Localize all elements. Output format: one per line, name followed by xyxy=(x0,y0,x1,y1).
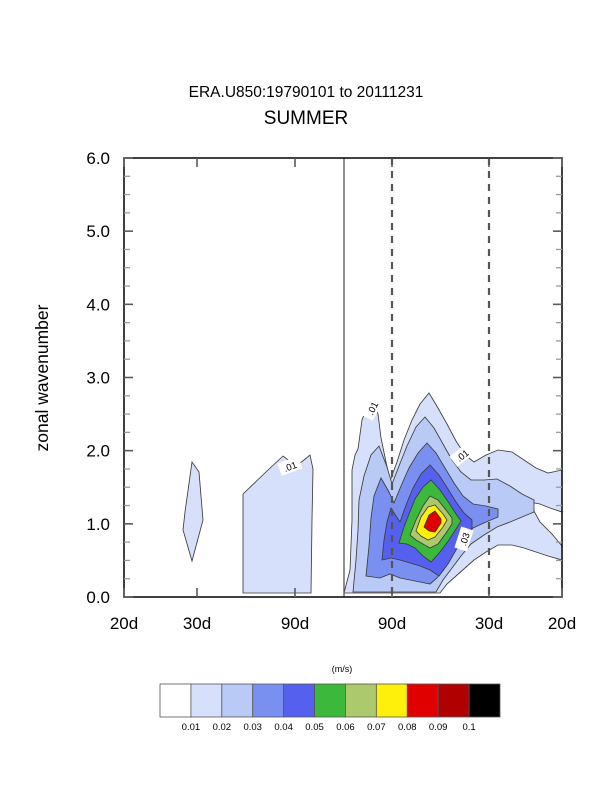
y-axis-label: zonal wavenumber xyxy=(32,304,52,451)
x-tick-label: 20d xyxy=(548,614,576,633)
figure-subtitle: SUMMER xyxy=(264,108,348,129)
colorbar-cell-2 xyxy=(222,684,253,717)
colorbar-level-label: 0.01 xyxy=(182,722,201,733)
colorbar-level-label: 0.04 xyxy=(274,722,293,733)
figure-title: ERA.U850:19790101 to 20111231 xyxy=(189,84,424,101)
colorbar-units-label: (m/s) xyxy=(332,664,353,674)
colorbar-level-label: 0.07 xyxy=(367,722,386,733)
y-tick-label: 2.0 xyxy=(86,442,110,461)
colorbar-cell-9 xyxy=(438,684,469,717)
colorbar-cell-5 xyxy=(315,684,346,717)
colorbar-level-label: 0.03 xyxy=(243,722,262,733)
x-axis-tick-labels: 20d30d90d90d30d20d xyxy=(110,614,576,633)
x-tick-label: 30d xyxy=(183,614,211,633)
x-tick-label: 90d xyxy=(378,614,406,633)
y-tick-label: 6.0 xyxy=(86,149,110,168)
colorbar-cell-10 xyxy=(469,684,500,717)
colorbar-cell-7 xyxy=(376,684,407,717)
colorbar-cell-4 xyxy=(284,684,315,717)
y-axis-tick-labels: 0.01.02.03.04.05.06.0 xyxy=(86,149,110,607)
plot-area: .01.01.01.03 xyxy=(124,158,562,597)
colorbar-level-label: 0.1 xyxy=(462,722,475,733)
y-tick-label: 5.0 xyxy=(86,222,110,241)
colorbar: (m/s) 0.010.020.030.040.050.060.070.080.… xyxy=(160,664,500,733)
colorbar-cells xyxy=(160,684,500,717)
x-tick-label: 30d xyxy=(475,614,503,633)
x-tick-label: 20d xyxy=(110,614,138,633)
colorbar-level-label: 0.05 xyxy=(305,722,324,733)
contour-figure: ERA.U850:19790101 to 20111231 SUMMER .01… xyxy=(0,0,612,792)
colorbar-cell-6 xyxy=(345,684,376,717)
y-tick-label: 1.0 xyxy=(86,515,110,534)
y-tick-label: 0.0 xyxy=(86,588,110,607)
colorbar-level-label: 0.09 xyxy=(429,722,448,733)
y-tick-label: 3.0 xyxy=(86,369,110,388)
colorbar-level-label: 0.06 xyxy=(336,722,355,733)
x-tick-label: 90d xyxy=(281,614,309,633)
colorbar-tick-labels: 0.010.020.030.040.050.060.070.080.090.1 xyxy=(182,722,476,733)
colorbar-cell-0 xyxy=(160,684,191,717)
colorbar-level-label: 0.02 xyxy=(213,722,232,733)
colorbar-level-label: 0.08 xyxy=(398,722,417,733)
y-tick-label: 4.0 xyxy=(86,295,110,314)
colorbar-cell-8 xyxy=(407,684,438,717)
colorbar-cell-1 xyxy=(191,684,222,717)
colorbar-cell-3 xyxy=(253,684,284,717)
